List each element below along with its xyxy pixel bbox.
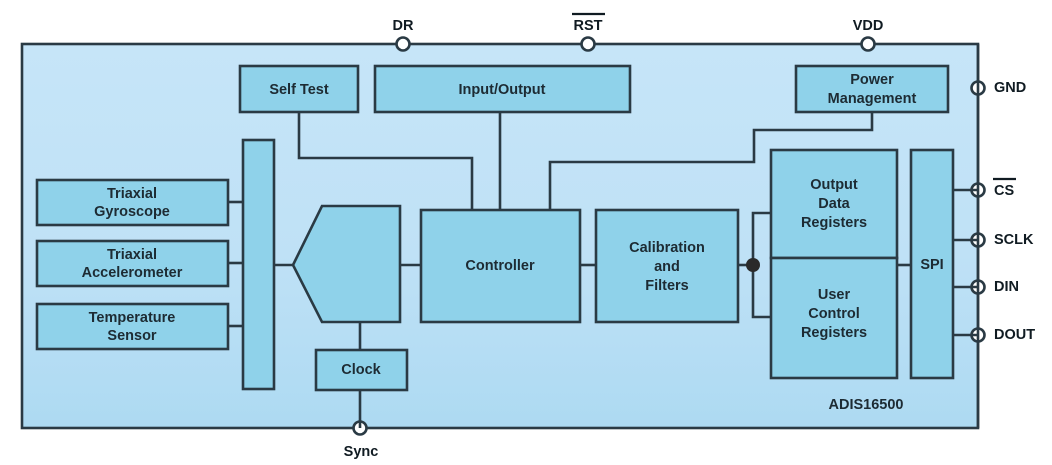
block-calibration-and-filters[interactable]: Calibration and Filters [596, 210, 738, 322]
block-output-data-registers-label-line1: Output [810, 177, 858, 193]
pin-din-label: DIN [994, 279, 1019, 295]
block-output-data-registers-label-line2: Data [818, 196, 850, 212]
block-calibration-label-line1: Calibration [629, 240, 705, 256]
block-triaxial-accelerometer-label-line1: Triaxial [107, 247, 157, 263]
pin-sclk-label: SCLK [994, 232, 1034, 248]
block-registers-group: Output Data Registers User Control Regis… [771, 150, 897, 378]
block-spi[interactable]: SPI [911, 150, 953, 378]
block-self-test[interactable]: Self Test [240, 66, 358, 112]
block-triaxial-accelerometer-label-line2: Accelerometer [82, 265, 183, 281]
block-input-output[interactable]: Input/Output [375, 66, 630, 112]
block-self-test-label: Self Test [269, 82, 329, 98]
block-controller-label: Controller [465, 258, 535, 274]
block-user-control-registers-label-line3: Registers [801, 325, 867, 341]
pin-rst-label: RST [574, 18, 603, 34]
pin-vdd-circle[interactable] [862, 38, 875, 51]
block-temperature-sensor-label-line2: Sensor [107, 328, 157, 344]
adis16500-block-diagram: Self Test Input/Output Power Management … [0, 0, 1052, 465]
pin-gnd-label: GND [994, 80, 1026, 96]
block-diagram-canvas: Self Test Input/Output Power Management … [0, 0, 1052, 465]
block-triaxial-gyroscope[interactable]: Triaxial Gyroscope [37, 180, 228, 225]
block-calibration-label-line2: and [654, 259, 680, 275]
block-power-management[interactable]: Power Management [796, 66, 948, 112]
block-triaxial-accelerometer[interactable]: Triaxial Accelerometer [37, 241, 228, 286]
junction-dot [746, 258, 760, 272]
block-controller[interactable]: Controller [421, 210, 580, 322]
pin-sync-label: Sync [344, 444, 379, 460]
block-clock-label: Clock [341, 362, 381, 378]
block-user-control-registers-label-line1: User [818, 287, 851, 303]
block-input-output-label: Input/Output [459, 82, 546, 98]
block-temperature-sensor[interactable]: Temperature Sensor [37, 304, 228, 349]
pin-dr-circle[interactable] [397, 38, 410, 51]
pin-dout-label: DOUT [994, 327, 1035, 343]
pin-rst-circle[interactable] [582, 38, 595, 51]
part-number-label: ADIS16500 [829, 397, 904, 413]
pin-dr-label: DR [393, 18, 414, 34]
block-triaxial-gyroscope-label-line2: Gyroscope [94, 204, 170, 220]
block-power-management-label-line1: Power [850, 72, 894, 88]
block-temperature-sensor-label-line1: Temperature [89, 310, 176, 326]
block-user-control-registers-label-line2: Control [808, 306, 860, 322]
block-power-management-label-line2: Management [828, 91, 917, 107]
block-calibration-label-line3: Filters [645, 278, 689, 294]
block-multiplexer[interactable] [243, 140, 274, 389]
block-output-data-registers-label-line3: Registers [801, 215, 867, 231]
pin-cs-label: CS [994, 183, 1014, 199]
block-spi-label: SPI [920, 257, 943, 273]
pin-vdd-label: VDD [853, 18, 884, 34]
block-triaxial-gyroscope-label-line1: Triaxial [107, 186, 157, 202]
block-clock[interactable]: Clock [316, 350, 407, 390]
